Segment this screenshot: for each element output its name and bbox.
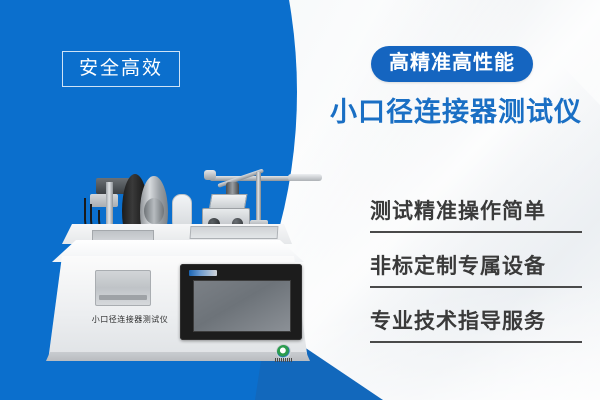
touchscreen-display (193, 280, 291, 332)
machine-name-plate: 小口径连接器测试仪 (70, 314, 190, 325)
drive-wheel-core (144, 198, 164, 224)
list-item: 非标定制专属设备 (370, 255, 582, 310)
screen-brand-sticker (189, 270, 217, 276)
gauge-arm-tip (288, 174, 322, 181)
safety-efficiency-badge: 安全高效 (62, 51, 180, 87)
touchscreen-bezel (180, 264, 302, 340)
feature-divider (370, 286, 582, 288)
front-access-panel (95, 270, 151, 306)
list-item: 测试精准操作简单 (370, 200, 582, 255)
test-machine-illustration: 小口径连接器测试仪 (40, 168, 320, 383)
list-item: 专业技术指导服务 (370, 310, 582, 365)
certification-logo-icon (276, 344, 291, 359)
gauge-arm-knob (204, 170, 216, 180)
feature-list: 测试精准操作简单 非标定制专属设备 专业技术指导服务 (370, 200, 582, 365)
feature-divider (370, 341, 582, 343)
feature-text: 专业技术指导服务 (370, 310, 582, 334)
deck-tray-right (190, 226, 279, 239)
product-banner: 安全高效 小口径连接器测试仪 (0, 0, 600, 400)
high-precision-pill: 高精准高性能 (371, 46, 533, 82)
feature-text: 非标定制专属设备 (370, 255, 582, 279)
machine-base-shadow (46, 352, 310, 361)
page-title: 小口径连接器测试仪 (330, 96, 582, 128)
feature-divider (370, 231, 582, 233)
gauge-arm-vertical (256, 172, 261, 224)
feature-text: 测试精准操作简单 (370, 200, 582, 224)
